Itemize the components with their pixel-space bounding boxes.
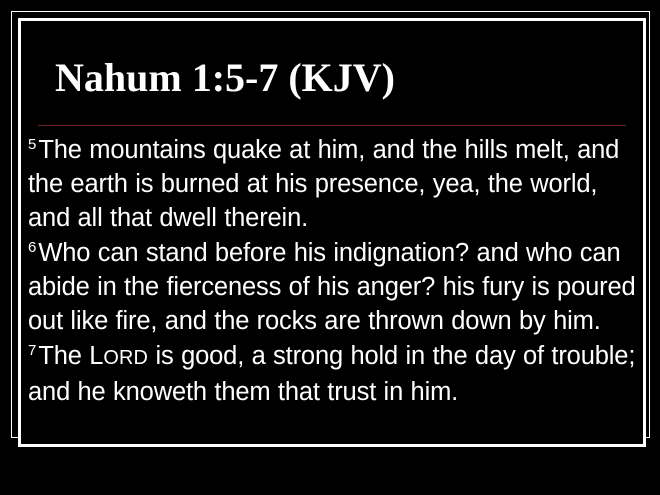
verse-number-6: 6	[28, 239, 38, 256]
verse-number-7: 7	[28, 342, 38, 359]
verse-text-5: The mountains quake at him, and the hill…	[28, 136, 619, 232]
divine-name-smallcaps: ORD	[103, 347, 148, 369]
verse-6: 6Who can stand before his indignation? a…	[28, 236, 643, 338]
title-divider-rule	[38, 125, 626, 126]
verse-text-7-lead: The	[38, 342, 89, 370]
verse-5: 5The mountains quake at him, and the hil…	[28, 133, 643, 235]
verse-number-5: 5	[28, 136, 38, 153]
verse-list: 5The mountains quake at him, and the hil…	[28, 133, 643, 410]
slide-content: Nahum 1:5-7 (KJV) 5The mountains quake a…	[21, 21, 643, 444]
verse-7: 7The LORD is good, a strong hold in the …	[28, 339, 643, 409]
scripture-slide: Nahum 1:5-7 (KJV) 5The mountains quake a…	[0, 0, 660, 495]
slide-title: Nahum 1:5-7 (KJV)	[55, 56, 395, 100]
verse-text-6: Who can stand before his indignation? an…	[28, 239, 636, 335]
divine-name-lead-cap: L	[89, 342, 103, 370]
